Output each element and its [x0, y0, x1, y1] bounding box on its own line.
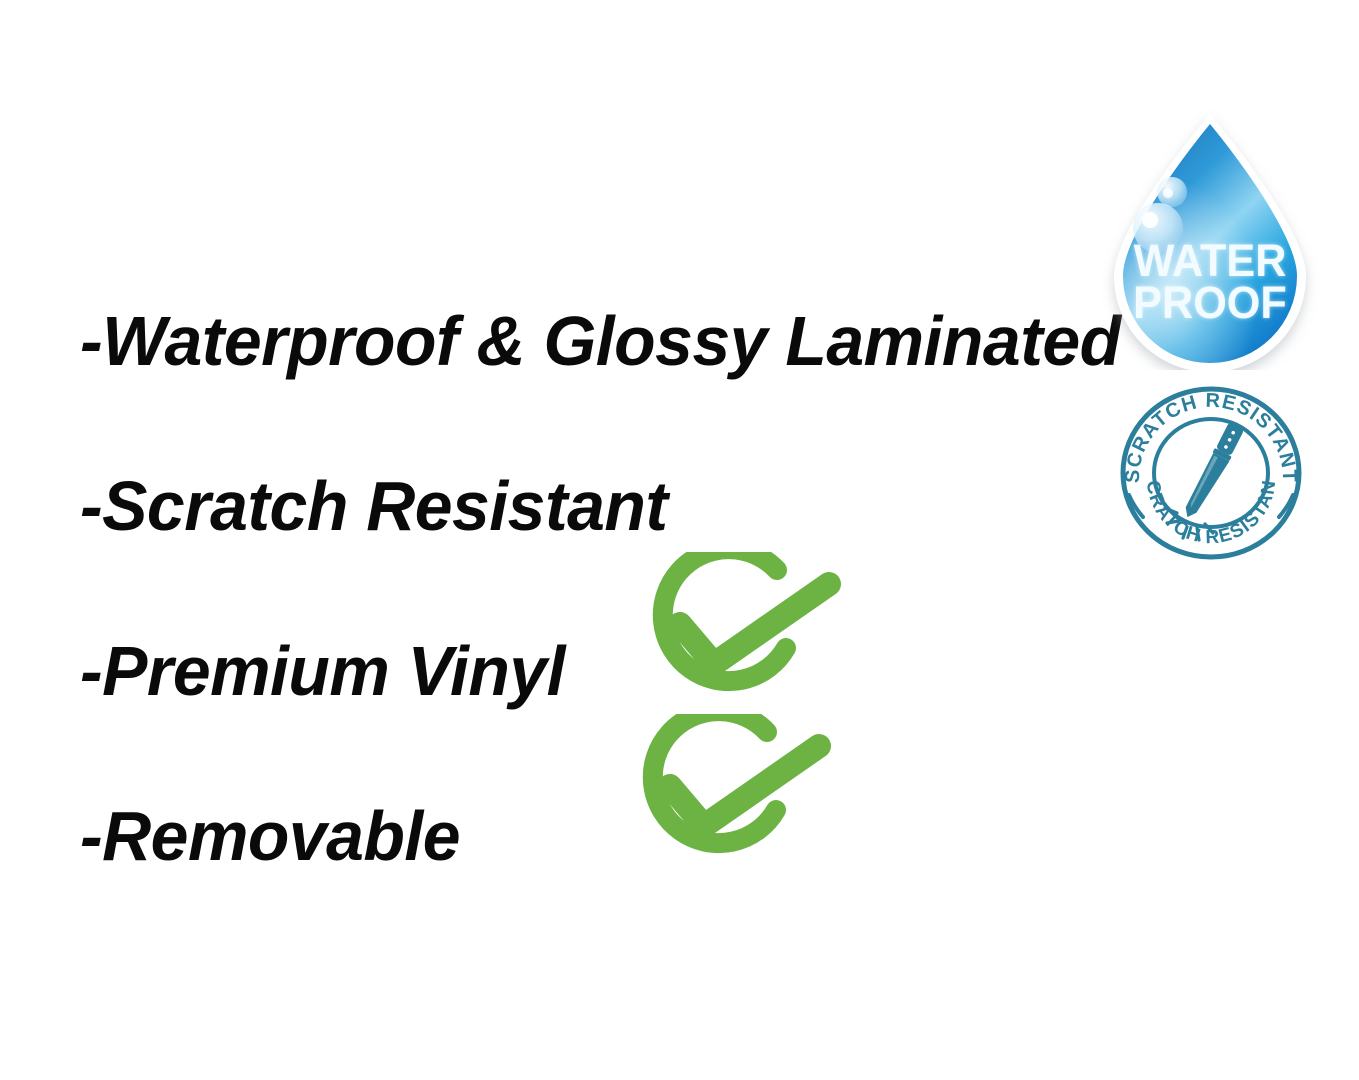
feature-label-removable: -Removable: [80, 801, 460, 871]
knife-stamp-icon: SCRATCH RESISTANT SCRATCH RESISTANT: [1113, 383, 1309, 563]
product-feature-graphic: -Waterproof & Glossy Laminated -Scratch …: [0, 0, 1359, 1080]
waterproof-badge: WATER PROOF: [1100, 108, 1320, 370]
check-circle-icon: [636, 552, 842, 718]
knife-icon: [1181, 421, 1245, 522]
check-mark: [680, 584, 829, 664]
knife-blade: [1182, 453, 1229, 523]
scratch-resistant-badge: SCRATCH RESISTANT SCRATCH RESISTANT: [1113, 383, 1309, 563]
bubble-large-highlight: [1142, 212, 1158, 228]
water-drop-icon: [1100, 108, 1320, 370]
feature-label-premium-vinyl: -Premium Vinyl: [80, 636, 565, 706]
check-circle-icon-1: [636, 552, 842, 718]
check-circle-icon: [626, 714, 832, 880]
feature-row: -Removable: [80, 753, 1090, 918]
bubble-large-icon: [1133, 203, 1183, 253]
check-mark: [670, 746, 819, 826]
feature-list: -Waterproof & Glossy Laminated -Scratch …: [80, 258, 1090, 918]
feature-label-scratch-resistant: -Scratch Resistant: [80, 471, 667, 541]
feature-label-waterproof-glossy-laminated: -Waterproof & Glossy Laminated: [80, 306, 1121, 376]
feature-row: -Premium Vinyl: [80, 588, 1090, 753]
feature-row: -Waterproof & Glossy Laminated: [80, 258, 1090, 423]
check-circle-icon-2: [626, 714, 832, 880]
feature-row: -Scratch Resistant: [80, 423, 1090, 588]
bubble-small-highlight: [1163, 188, 1173, 198]
